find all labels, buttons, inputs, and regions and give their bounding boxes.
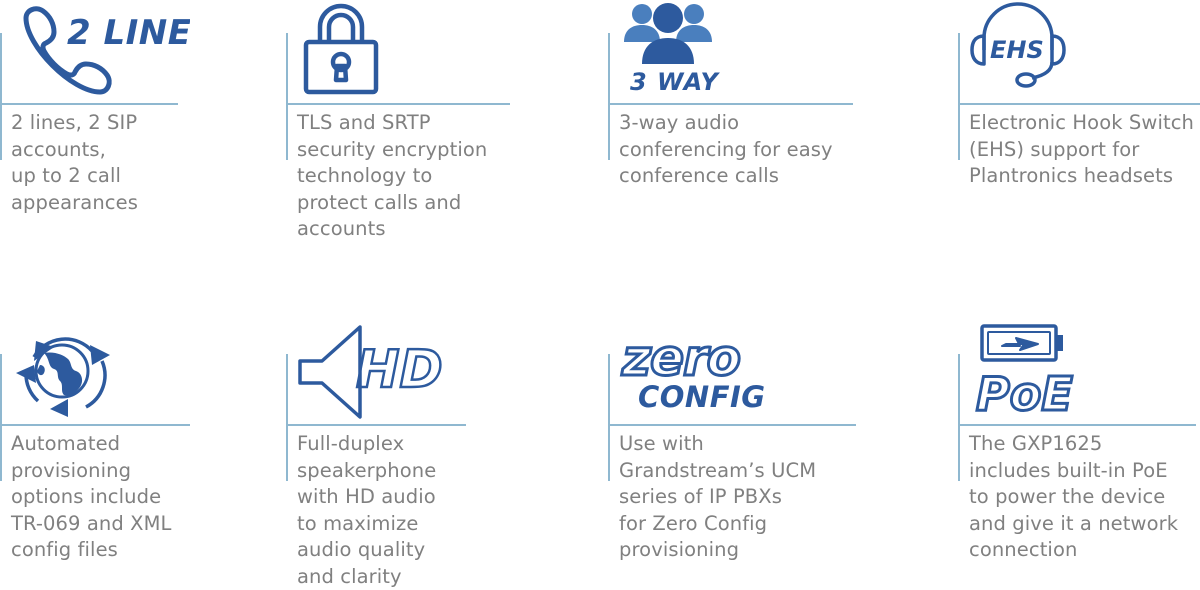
headset-ehs-icon: EHS — [968, 2, 1098, 98]
icon-area: zero CONFIG — [618, 321, 848, 421]
icon-area: 3 WAY — [618, 0, 848, 100]
feature-description: 3-way audio conferencing for easy confer… — [619, 110, 859, 190]
zero-config-icon: zero CONFIG — [618, 323, 778, 419]
zero-wordmark: zero — [621, 329, 740, 387]
vertical-rule — [958, 33, 960, 160]
horizontal-rule — [0, 103, 178, 105]
feature-description: Automated provisioning options include T… — [11, 431, 243, 564]
horizontal-rule — [286, 424, 466, 426]
icon-area: HD — [296, 321, 526, 421]
horizontal-rule — [608, 103, 853, 105]
vertical-rule — [286, 33, 288, 160]
vertical-rule — [0, 354, 2, 481]
horizontal-rule — [286, 103, 510, 105]
icon-label: HD — [356, 340, 443, 400]
icon-label: 2 LINES — [67, 13, 190, 53]
feature-grid: 2 LINES 2 lines, 2 SIP accounts, up to 2… — [0, 0, 1200, 577]
icon-area: PoE — [968, 321, 1198, 421]
three-people-icon: 3 WAY — [618, 0, 748, 100]
horizontal-rule — [958, 103, 1200, 105]
feature-description: Use with Grandstream’s UCM series of IP … — [619, 431, 865, 564]
icon-area: EHS — [968, 0, 1198, 100]
horizontal-rule — [608, 424, 856, 426]
horizontal-rule — [0, 424, 190, 426]
vertical-rule — [608, 33, 610, 160]
config-wordmark: CONFIG — [638, 380, 766, 414]
feature-description: The GXP1625 includes built-in PoE to pow… — [969, 431, 1200, 564]
feature-description: TLS and SRTP security encryption technol… — [297, 110, 529, 243]
padlock-icon — [296, 2, 406, 98]
vertical-rule — [286, 354, 288, 481]
icon-area: 2 LINES — [10, 0, 240, 100]
battery-poe-icon: PoE — [968, 322, 1098, 420]
feature-description: Electronic Hook Switch (EHS) support for… — [969, 110, 1200, 190]
feature-description: Full-duplex speakerphone with HD audio t… — [297, 431, 529, 590]
vertical-rule — [958, 354, 960, 481]
globe-arrows-provisioning-icon — [10, 321, 130, 421]
icon-label: PoE — [976, 367, 1073, 420]
speaker-hd-icon: HD — [296, 321, 446, 421]
vertical-rule — [0, 33, 2, 160]
icon-label: EHS — [990, 36, 1044, 64]
horizontal-rule — [958, 424, 1196, 426]
feature-description: 2 lines, 2 SIP accounts, up to 2 call ap… — [11, 110, 243, 216]
icon-area — [10, 321, 240, 421]
icon-label: 3 WAY — [630, 68, 720, 96]
phone-handset-2-lines-icon: 2 LINES — [10, 2, 190, 98]
icon-area — [296, 0, 526, 100]
vertical-rule — [608, 354, 610, 481]
